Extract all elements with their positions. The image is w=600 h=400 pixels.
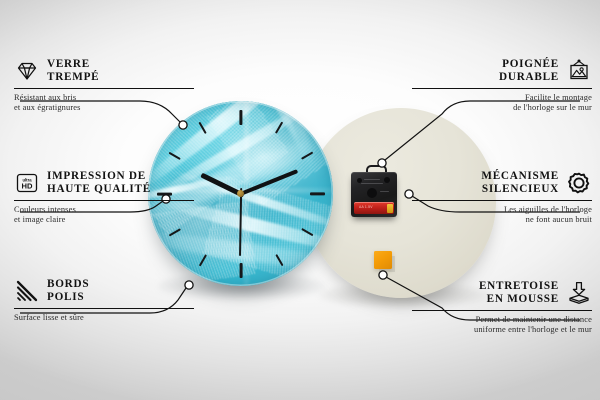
hanging-picture-icon bbox=[566, 58, 592, 84]
callout-title: BORDSPOLIS bbox=[47, 278, 89, 303]
callout-poignee-durable[interactable]: POIGNÉEDURABLE Facilite le montagede l'h… bbox=[412, 58, 592, 113]
callout-title: ENTRETOISEEN MOUSSE bbox=[479, 280, 559, 305]
svg-text:HD: HD bbox=[22, 182, 33, 191]
callout-divider bbox=[412, 88, 592, 89]
callout-bords-polis[interactable]: BORDSPOLIS Surface lisse et sûre bbox=[14, 278, 194, 323]
callout-title: MÉCANISMESILENCIEUX bbox=[481, 170, 559, 195]
callout-title: VERRETREMPÉ bbox=[47, 58, 99, 83]
battery-label: AA 1.5V bbox=[359, 205, 373, 209]
callout-mecanisme-silencieux[interactable]: MÉCANISMESILENCIEUX Les aiguilles de l'h… bbox=[412, 170, 592, 225]
gear-icon bbox=[566, 170, 592, 196]
diamond-icon bbox=[14, 58, 40, 84]
mechanism-shaft bbox=[367, 188, 377, 198]
mechanism-mark-1 bbox=[364, 179, 380, 180]
callout-subtitle: Couleurs intenseset image claire bbox=[14, 205, 194, 226]
mechanism-mark-2 bbox=[361, 183, 383, 184]
callout-divider bbox=[412, 200, 592, 201]
callout-verre-trempe[interactable]: VERRETREMPÉ Résistant aux briset aux égr… bbox=[14, 58, 194, 113]
battery: AA 1.5V bbox=[354, 202, 394, 214]
callout-subtitle: Surface lisse et sûre bbox=[14, 313, 194, 323]
callout-title: POIGNÉEDURABLE bbox=[499, 58, 559, 83]
foam-spacer bbox=[374, 251, 392, 269]
callout-divider bbox=[14, 308, 194, 309]
callout-subtitle: Les aiguilles de l'horlogene font aucun … bbox=[412, 205, 592, 226]
arrow-onto-pad-icon bbox=[566, 280, 592, 306]
callout-title: IMPRESSION DEHAUTE QUALITÉ bbox=[47, 170, 151, 195]
ultra-hd-icon: ultra HD bbox=[14, 170, 40, 196]
callout-subtitle: Facilite le montagede l'horloge sur le m… bbox=[412, 93, 592, 114]
callout-divider bbox=[14, 200, 194, 201]
clock-mechanism: AA 1.5V bbox=[351, 172, 397, 217]
callout-subtitle: Résistant aux briset aux égratignures bbox=[14, 93, 194, 114]
mechanism-mark-3 bbox=[380, 191, 389, 192]
diagonal-stripes-icon bbox=[14, 278, 40, 304]
mechanism-body: AA 1.5V bbox=[351, 172, 397, 217]
callout-entretoise-en-mousse[interactable]: ENTRETOISEEN MOUSSE Permet de maintenir … bbox=[412, 280, 592, 335]
callout-impression-haute-qualite[interactable]: ultra HD IMPRESSION DEHAUTE QUALITÉ Coul… bbox=[14, 170, 194, 225]
callout-divider bbox=[412, 310, 592, 311]
callout-divider bbox=[14, 88, 194, 89]
battery-positive-terminal bbox=[387, 204, 393, 213]
mechanism-screw-2 bbox=[384, 177, 390, 183]
callout-subtitle: Permet de maintenir une distanceuniforme… bbox=[412, 315, 592, 336]
infographic-canvas: AA 1.5V bbox=[0, 0, 600, 400]
